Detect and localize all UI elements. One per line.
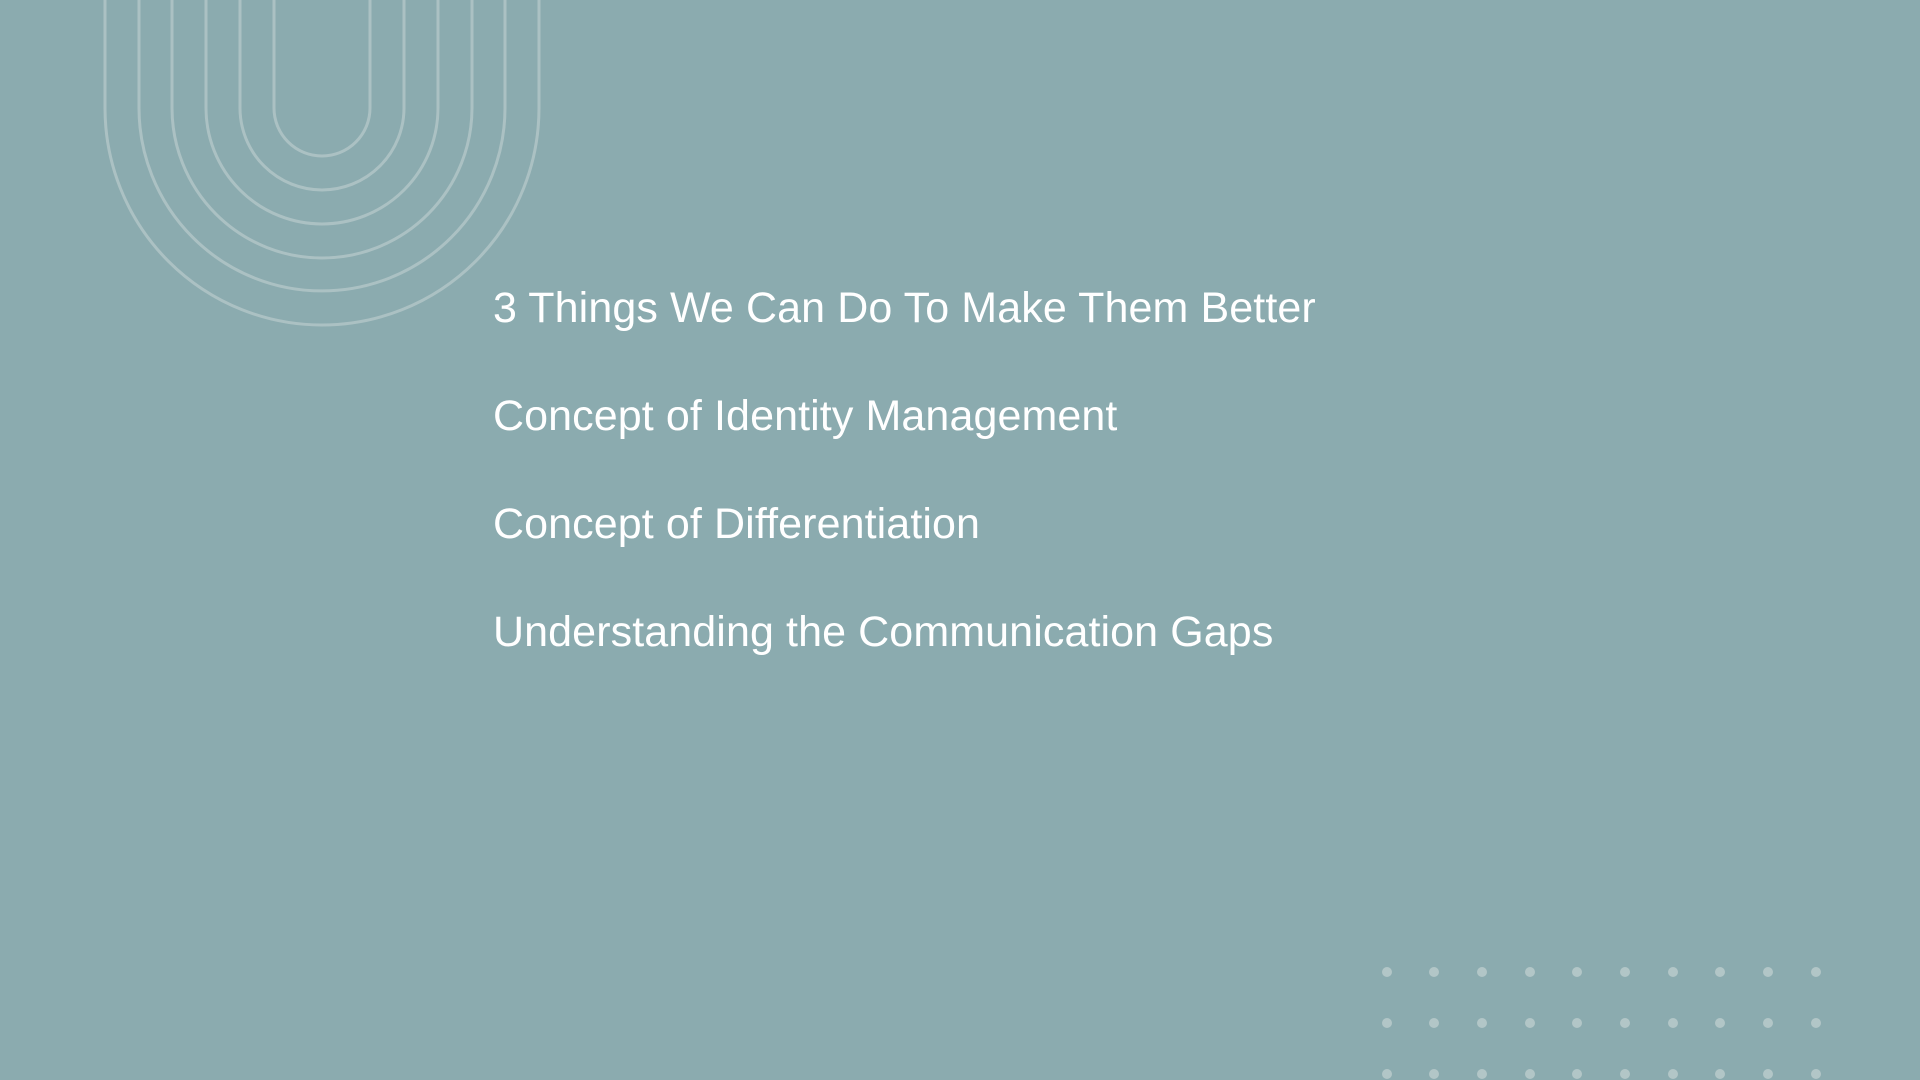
- arch-ring-2: [240, 0, 404, 190]
- agenda-item-2: Concept of Identity Management: [493, 362, 1693, 470]
- slide-canvas: 3 Things We Can Do To Make Them Better C…: [0, 0, 1920, 1080]
- arch-ring-5: [139, 0, 505, 291]
- arch-ring-3: [206, 0, 438, 224]
- arch-ring-6: [105, 0, 539, 325]
- agenda-item-1: 3 Things We Can Do To Make Them Better: [493, 254, 1693, 362]
- arch-ring-4: [172, 0, 472, 258]
- dot-grid-decoration: [1380, 965, 1825, 1080]
- dot-grid-dots: [1382, 967, 1821, 1079]
- agenda-list: 3 Things We Can Do To Make Them Better C…: [493, 254, 1693, 686]
- arch-ring-1: [274, 0, 370, 156]
- agenda-item-4: Understanding the Communication Gaps: [493, 578, 1693, 686]
- agenda-item-3: Concept of Differentiation: [493, 470, 1693, 578]
